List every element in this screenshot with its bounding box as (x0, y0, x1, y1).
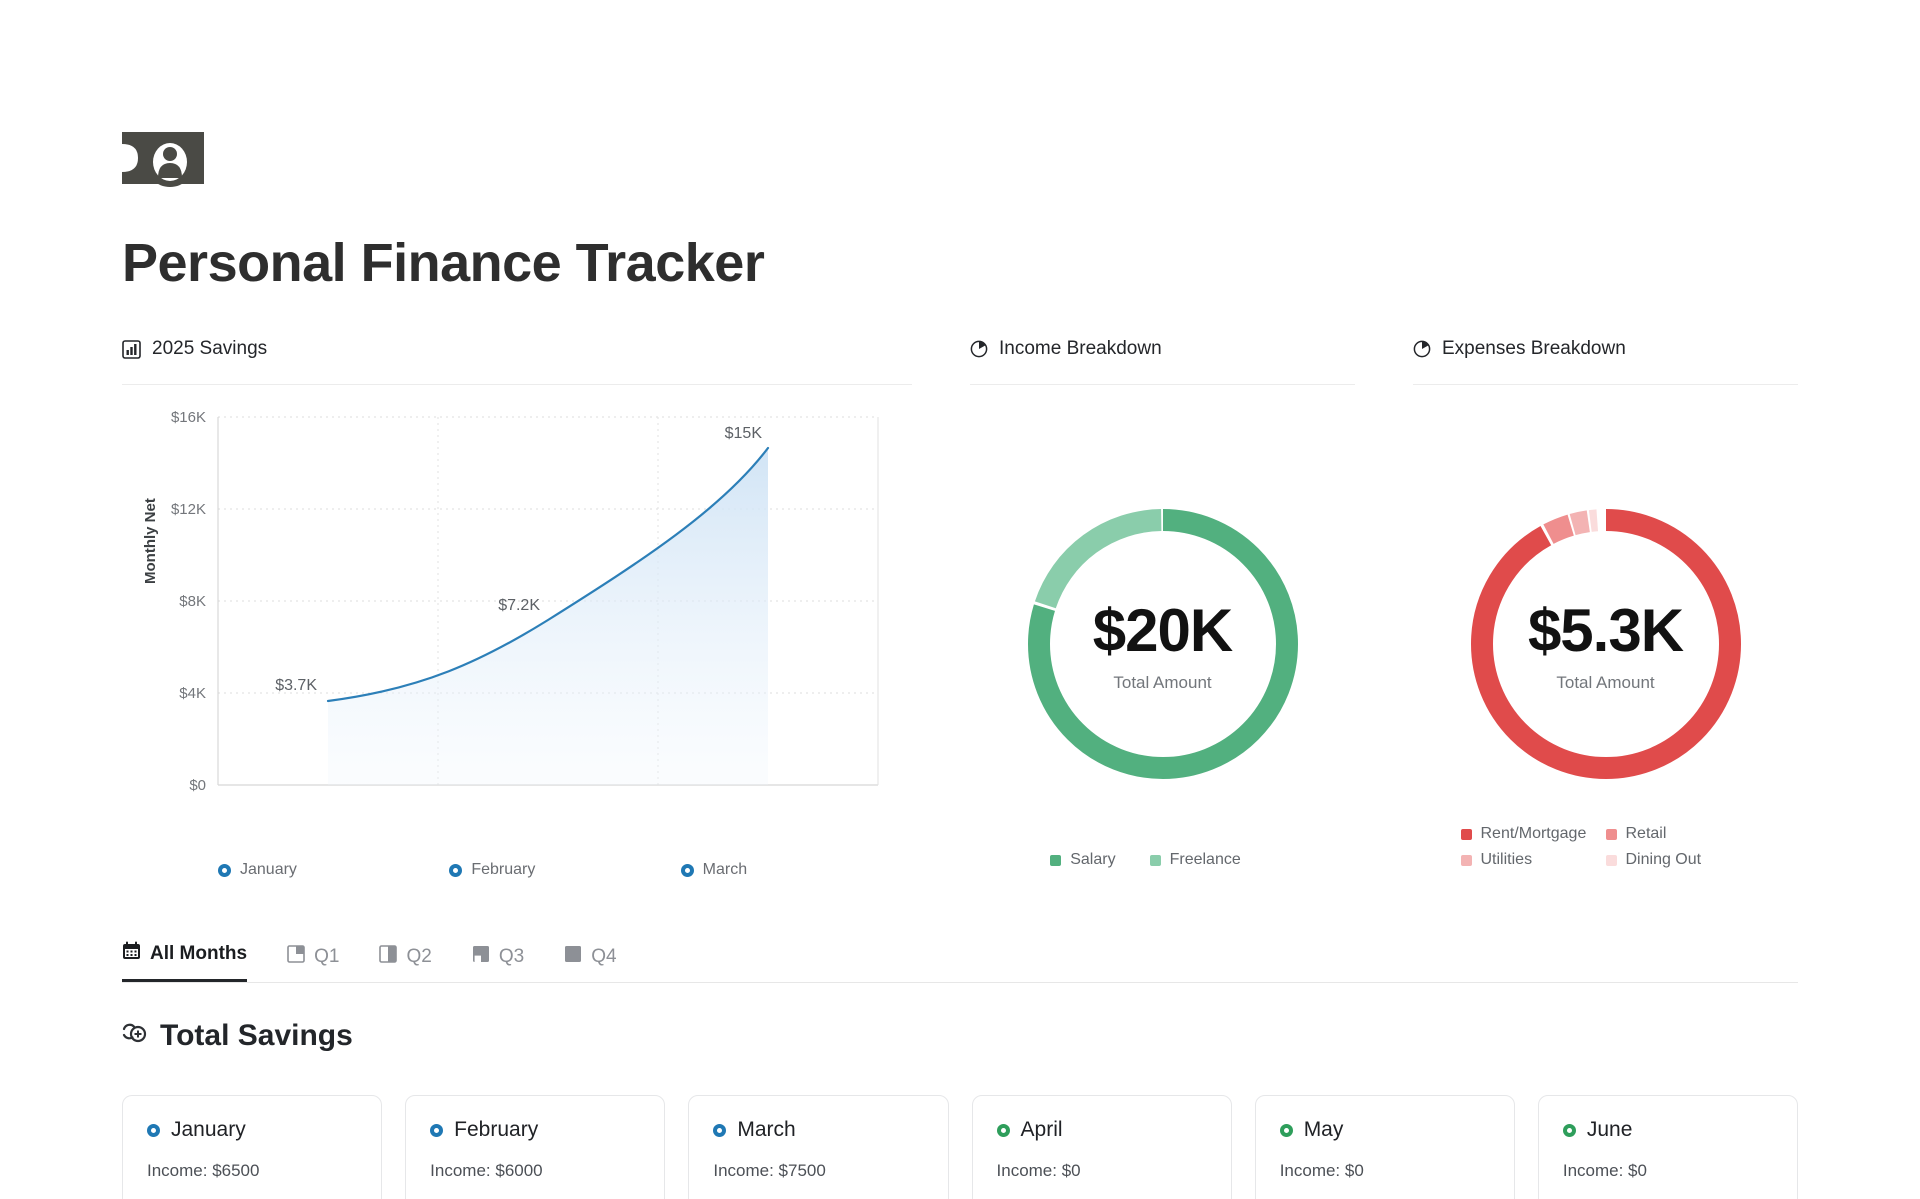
month-card-march[interactable]: March Income: $7500 Expenses: $0 Net: $7… (688, 1095, 948, 1199)
point-marker-icon (449, 864, 462, 877)
income-breakdown-header: Income Breakdown (970, 338, 1355, 385)
svg-text:$4K: $4K (179, 685, 206, 702)
tab-label: All Months (150, 943, 247, 965)
legend-swatch-icon (1461, 829, 1472, 840)
square-three-quarter-icon (472, 945, 490, 969)
tab-label: Q1 (314, 946, 339, 968)
income-donut-chart: $20K Total Amount (1021, 502, 1305, 786)
income-donut-center: $20K Total Amount (1021, 502, 1305, 786)
expenses-donut-chart: $5.3K Total Amount (1464, 502, 1748, 786)
month-card-april[interactable]: April Income: $0 Expenses: $0 Net: $0 (972, 1095, 1232, 1199)
month-cards: January Income: $6500 Expenses: $2845 Ne… (122, 1095, 1798, 1199)
expenses-total-value: $5.3K (1528, 596, 1683, 665)
income-legend: Salary Freelance (970, 847, 1355, 873)
month-name: February (454, 1118, 538, 1142)
legend-label: Salary (1070, 851, 1115, 869)
month-income: Income: $0 (997, 1161, 1207, 1181)
tab-label: Q4 (591, 946, 616, 968)
square-quarter-icon (287, 945, 305, 969)
square-full-icon (564, 945, 582, 969)
total-savings-title: Total Savings (160, 1019, 353, 1053)
x-legend-item-january[interactable]: January (218, 861, 449, 879)
coins-icon (122, 1023, 148, 1050)
savings-chart-panel: 2025 Savings Monthly Net (122, 338, 912, 879)
legend-item-utilities[interactable]: Utilities (1461, 851, 1606, 869)
bar-chart-icon (122, 340, 141, 359)
tab-label: Q3 (499, 946, 524, 968)
legend-swatch-icon (1050, 855, 1061, 866)
svg-text:$8K: $8K (179, 593, 206, 610)
month-card-january[interactable]: January Income: $6500 Expenses: $2845 Ne… (122, 1095, 382, 1199)
pie-chart-icon (970, 340, 988, 358)
month-status-icon (1280, 1124, 1293, 1137)
y-axis-label: Monthly Net (142, 498, 159, 584)
month-card-june[interactable]: June Income: $0 Expenses: $0 Net: $0 (1538, 1095, 1798, 1199)
legend-swatch-icon (1606, 855, 1617, 866)
month-card-may[interactable]: May Income: $0 Expenses: $0 Net: $0 (1255, 1095, 1515, 1199)
legend-item-rent-mortgage[interactable]: Rent/Mortgage (1461, 825, 1606, 843)
expenses-breakdown-panel: Expenses Breakdown $5.3K Total Amount (1413, 338, 1798, 879)
expenses-donut-wrap: $5.3K Total Amount Rent/Mortgage Retail (1413, 409, 1798, 879)
svg-text:$7.2K: $7.2K (498, 597, 540, 614)
card-head: January (147, 1118, 357, 1142)
page-title: Personal Finance Tracker (122, 232, 1798, 294)
tab-label: Q2 (406, 946, 431, 968)
money-person-icon (122, 128, 222, 198)
expenses-breakdown-header: Expenses Breakdown (1413, 338, 1798, 385)
point-marker-icon (218, 864, 231, 877)
legend-label: Utilities (1481, 851, 1533, 869)
legend-label: Rent/Mortgage (1481, 825, 1587, 843)
income-donut-wrap: $20K Total Amount Salary Freelance (970, 409, 1355, 879)
card-head: April (997, 1118, 1207, 1142)
square-half-icon (379, 945, 397, 969)
legend-label: Retail (1626, 825, 1667, 843)
month-income: Income: $7500 (713, 1161, 923, 1181)
svg-text:$16K: $16K (171, 409, 206, 426)
x-legend-label: January (240, 861, 297, 879)
tab-q4[interactable]: Q4 (564, 945, 616, 982)
tab-all-months[interactable]: All Months (122, 941, 247, 982)
legend-swatch-icon (1150, 855, 1161, 866)
legend-label: Dining Out (1626, 851, 1702, 869)
income-breakdown-panel: Income Breakdown $20K Total Amount (970, 338, 1355, 879)
total-savings-header: Total Savings (122, 1019, 1798, 1053)
legend-label: Freelance (1170, 851, 1241, 869)
pie-chart-icon (1413, 340, 1431, 358)
month-income: Income: $6500 (147, 1161, 357, 1181)
legend-swatch-icon (1606, 829, 1617, 840)
x-legend-label: March (703, 861, 747, 879)
point-marker-icon (681, 864, 694, 877)
month-card-february[interactable]: February Income: $6000 Expenses: $2500 N… (405, 1095, 665, 1199)
legend-item-retail[interactable]: Retail (1606, 825, 1751, 843)
savings-chart-header: 2025 Savings (122, 338, 912, 385)
svg-text:$15K: $15K (725, 425, 763, 442)
income-total-value: $20K (1093, 596, 1232, 665)
month-status-icon (997, 1124, 1010, 1137)
card-head: March (713, 1118, 923, 1142)
income-breakdown-title: Income Breakdown (999, 338, 1162, 360)
x-legend-item-february[interactable]: February (449, 861, 680, 879)
savings-x-legend: January February March (218, 861, 912, 879)
month-name: January (171, 1118, 246, 1142)
legend-swatch-icon (1461, 855, 1472, 866)
income-total-label: Total Amount (1113, 673, 1211, 693)
month-name: April (1021, 1118, 1063, 1142)
savings-chart-svg: $16K $12K $8K $4K $0 $3.7K $7.2K $15K (122, 409, 912, 859)
month-income: Income: $0 (1563, 1161, 1773, 1181)
month-status-icon (430, 1124, 443, 1137)
legend-item-salary[interactable]: Salary (1050, 851, 1115, 869)
month-name: March (737, 1118, 795, 1142)
x-legend-label: February (471, 861, 535, 879)
svg-text:$12K: $12K (171, 501, 206, 518)
tab-q3[interactable]: Q3 (472, 945, 524, 982)
legend-item-dining-out[interactable]: Dining Out (1606, 851, 1751, 869)
card-head: June (1563, 1118, 1773, 1142)
page-root: Personal Finance Tracker 2025 Savings Mo… (0, 128, 1920, 1199)
month-status-icon (1563, 1124, 1576, 1137)
month-status-icon (713, 1124, 726, 1137)
card-head: May (1280, 1118, 1490, 1142)
tab-q1[interactable]: Q1 (287, 945, 339, 982)
calendar-icon (122, 941, 141, 966)
period-tabs: All Months Q1 Q2 (122, 941, 1798, 983)
expenses-legend: Rent/Mortgage Retail Utilities Dining Ou… (1461, 821, 1751, 873)
month-name: June (1587, 1118, 1633, 1142)
legend-item-freelance[interactable]: Freelance (1150, 851, 1241, 869)
savings-chart-title: 2025 Savings (152, 338, 267, 360)
x-legend-item-march[interactable]: March (681, 861, 912, 879)
month-income: Income: $0 (1280, 1161, 1490, 1181)
expenses-total-label: Total Amount (1556, 673, 1654, 693)
charts-row: 2025 Savings Monthly Net (122, 338, 1798, 879)
month-income: Income: $6000 (430, 1161, 640, 1181)
svg-text:$3.7K: $3.7K (275, 677, 317, 694)
month-name: May (1304, 1118, 1344, 1142)
expenses-donut-center: $5.3K Total Amount (1464, 502, 1748, 786)
expenses-breakdown-title: Expenses Breakdown (1442, 338, 1626, 360)
card-head: February (430, 1118, 640, 1142)
savings-line-chart: Monthly Net (122, 409, 912, 879)
month-status-icon (147, 1124, 160, 1137)
tab-q2[interactable]: Q2 (379, 945, 431, 982)
svg-text:$0: $0 (189, 777, 206, 794)
